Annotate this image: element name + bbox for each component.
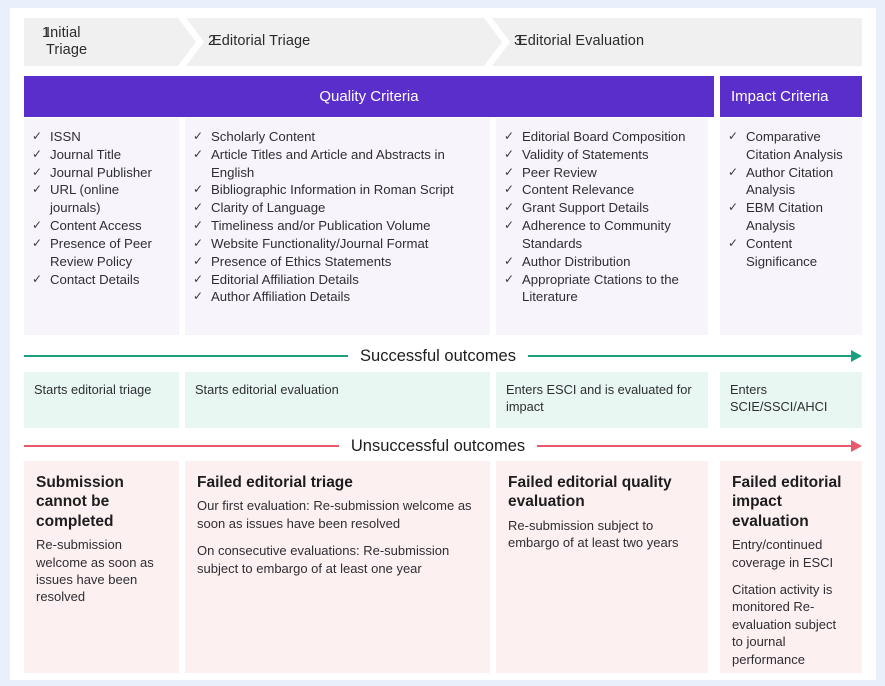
check-icon: ✓ — [728, 128, 746, 145]
criteria-item-label: Comparative Citation Analysis — [746, 128, 854, 164]
criteria-item-label: Clarity of Language — [211, 199, 482, 217]
criteria-item: ✓Content Significance — [728, 235, 854, 271]
criteria-item: ✓Content Access — [32, 217, 171, 235]
criteria-item-label: Content Access — [50, 217, 171, 235]
unsuccessful-outcomes-label: Unsuccessful outcomes — [339, 437, 537, 456]
criteria-item-label: Validity of Statements — [522, 146, 700, 164]
criteria-item-label: Author Citation Analysis — [746, 164, 854, 200]
unsuccessful-outcome-2: Failed editorial triageOur first evaluat… — [185, 461, 490, 673]
diagram-page: 1. InitialTriage 2. Editorial Triage 3. … — [0, 0, 885, 686]
criteria-item: ✓Peer Review — [504, 164, 700, 182]
workflow-step-bar: 1. InitialTriage 2. Editorial Triage 3. … — [24, 18, 862, 66]
check-icon: ✓ — [504, 146, 522, 163]
criteria-item: ✓Article Titles and Article and Abstract… — [193, 146, 482, 182]
criteria-item-label: Presence of Ethics Statements — [211, 253, 482, 271]
criteria-item-label: Bibliographic Information in Roman Scrip… — [211, 181, 482, 199]
check-icon: ✓ — [32, 128, 50, 145]
criteria-item-label: Content Relevance — [522, 181, 700, 199]
unsuccessful-outcomes-arrow: Unsuccessful outcomes — [24, 431, 862, 461]
successful-outcome-3: Enters ESCI and is evaluated for impact — [496, 372, 708, 428]
criteria-item-label: Journal Publisher — [50, 164, 171, 182]
check-icon: ✓ — [32, 164, 50, 181]
criteria-item-label: EBM Citation Analysis — [746, 199, 854, 235]
check-icon: ✓ — [504, 199, 522, 216]
criteria-item-label: Editorial Affiliation Details — [211, 271, 482, 289]
criteria-item-label: Article Titles and Article and Abstracts… — [211, 146, 482, 182]
impact-criteria-title: Impact Criteria — [731, 88, 829, 105]
criteria-item: ✓Validity of Statements — [504, 146, 700, 164]
criteria-item: ✓Author Affiliation Details — [193, 288, 482, 306]
step-3-number: 3. — [496, 33, 518, 49]
criteria-item: ✓Bibliographic Information in Roman Scri… — [193, 181, 482, 199]
check-icon: ✓ — [504, 253, 522, 270]
step-2-editorial-triage[interactable]: 2. Editorial Triage — [190, 18, 510, 66]
criteria-column-1: ✓ISSN✓Journal Title✓Journal Publisher✓UR… — [24, 118, 179, 335]
criteria-item-label: Grant Support Details — [522, 199, 700, 217]
check-icon: ✓ — [193, 253, 211, 270]
check-icon: ✓ — [32, 181, 50, 198]
criteria-item-label: ISSN — [50, 128, 171, 146]
successful-outcomes-arrow: Successful outcomes — [24, 341, 862, 371]
criteria-item: ✓Editorial Affiliation Details — [193, 271, 482, 289]
successful-arrow-line-right — [528, 355, 852, 357]
criteria-item: ✓Adherence to Community Standards — [504, 217, 700, 253]
criteria-column-3: ✓Editorial Board Composition✓Validity of… — [496, 118, 708, 335]
criteria-column-4: ✓Comparative Citation Analysis✓Author Ci… — [720, 118, 862, 335]
successful-arrow-line-left — [24, 355, 348, 357]
criteria-column-2: ✓Scholarly Content✓Article Titles and Ar… — [185, 118, 490, 335]
check-icon: ✓ — [504, 271, 522, 288]
step-3-label: Editorial Evaluation — [518, 33, 644, 50]
check-icon: ✓ — [32, 235, 50, 252]
criteria-item-label: Timeliness and/or Publication Volume — [211, 217, 482, 235]
check-icon: ✓ — [728, 235, 746, 252]
criteria-item: ✓Timeliness and/or Publication Volume — [193, 217, 482, 235]
step-1-label: InitialTriage — [46, 25, 87, 59]
criteria-item-label: Journal Title — [50, 146, 171, 164]
criteria-item-label: Author Affiliation Details — [211, 288, 482, 306]
criteria-item: ✓Grant Support Details — [504, 199, 700, 217]
criteria-item: ✓Clarity of Language — [193, 199, 482, 217]
criteria-item-label: URL (online journals) — [50, 181, 171, 217]
step-3-editorial-evaluation[interactable]: 3. Editorial Evaluation — [496, 18, 862, 66]
unsuccessful-arrowhead-icon — [851, 440, 862, 452]
unsuccessful-arrow-line-left — [24, 445, 339, 447]
criteria-item-label: Presence of Peer Review Policy — [50, 235, 171, 271]
criteria-item-label: Author Distribution — [522, 253, 700, 271]
check-icon: ✓ — [504, 181, 522, 198]
criteria-item: ✓Author Distribution — [504, 253, 700, 271]
criteria-item: ✓Website Functionality/Journal Format — [193, 235, 482, 253]
unsuccessful-outcome-text: Re-submission subject to embargo of at l… — [508, 517, 696, 552]
unsuccessful-outcome-title: Failed editorial triage — [197, 473, 478, 492]
unsuccessful-outcome-4: Failed editorial impact evaluationEntry/… — [720, 461, 862, 673]
criteria-item: ✓Content Relevance — [504, 181, 700, 199]
unsuccessful-outcome-text: On consecutive evaluations: Re-submissio… — [197, 542, 478, 577]
unsuccessful-outcome-1: Submission cannot be completedRe-submiss… — [24, 461, 179, 673]
criteria-item-label: Scholarly Content — [211, 128, 482, 146]
criteria-item-label: Peer Review — [522, 164, 700, 182]
successful-arrowhead-icon — [851, 350, 862, 362]
quality-criteria-title: Quality Criteria — [319, 88, 418, 105]
criteria-item: ✓Scholarly Content — [193, 128, 482, 146]
unsuccessful-outcome-3: Failed editorial quality evaluationRe-su… — [496, 461, 708, 673]
criteria-item: ✓Author Citation Analysis — [728, 164, 854, 200]
unsuccessful-outcome-text: Our first evaluation: Re-submission welc… — [197, 497, 478, 532]
check-icon: ✓ — [32, 217, 50, 234]
unsuccessful-outcome-title: Submission cannot be completed — [36, 473, 167, 531]
check-icon: ✓ — [504, 128, 522, 145]
quality-criteria-header: Quality Criteria — [24, 76, 714, 117]
criteria-item: ✓EBM Citation Analysis — [728, 199, 854, 235]
check-icon: ✓ — [193, 128, 211, 145]
step-1-initial-triage[interactable]: 1. InitialTriage — [24, 18, 204, 66]
criteria-item-label: Adherence to Community Standards — [522, 217, 700, 253]
successful-outcomes-label: Successful outcomes — [348, 347, 528, 366]
unsuccessful-arrow-line-right — [537, 445, 852, 447]
criteria-item: ✓Contact Details — [32, 271, 171, 289]
check-icon: ✓ — [728, 164, 746, 181]
step-2-label: Editorial Triage — [212, 33, 310, 50]
step-1-number: 1. — [24, 25, 46, 41]
unsuccessful-outcome-title: Failed editorial quality evaluation — [508, 473, 696, 512]
criteria-item: ✓Comparative Citation Analysis — [728, 128, 854, 164]
check-icon: ✓ — [193, 271, 211, 288]
check-icon: ✓ — [504, 217, 522, 234]
unsuccessful-outcome-text: Entry/continued coverage in ESCI — [732, 536, 850, 571]
criteria-item-label: Website Functionality/Journal Format — [211, 235, 482, 253]
check-icon: ✓ — [32, 271, 50, 288]
unsuccessful-outcome-text: Re-submission welcome as soon as issues … — [36, 536, 167, 606]
check-icon: ✓ — [193, 181, 211, 198]
criteria-item-label: Contact Details — [50, 271, 171, 289]
criteria-item: ✓Journal Title — [32, 146, 171, 164]
criteria-item: ✓Editorial Board Composition — [504, 128, 700, 146]
diagram-card: 1. InitialTriage 2. Editorial Triage 3. … — [10, 8, 876, 680]
impact-criteria-header: Impact Criteria — [720, 76, 862, 117]
criteria-item-label: Editorial Board Composition — [522, 128, 700, 146]
check-icon: ✓ — [728, 199, 746, 216]
check-icon: ✓ — [193, 199, 211, 216]
criteria-item: ✓Presence of Peer Review Policy — [32, 235, 171, 271]
criteria-item-label: Content Significance — [746, 235, 854, 271]
check-icon: ✓ — [193, 217, 211, 234]
step-2-number: 2. — [190, 33, 212, 49]
criteria-item-label: Appropriate Ctations to the Literature — [522, 271, 700, 307]
successful-outcome-4: Enters SCIE/SSCI/AHCI — [720, 372, 862, 428]
check-icon: ✓ — [193, 146, 211, 163]
successful-outcome-2: Starts editorial evaluation — [185, 372, 490, 428]
check-icon: ✓ — [32, 146, 50, 163]
unsuccessful-outcome-text: Citation activity is monitored Re-evalua… — [732, 581, 850, 668]
check-icon: ✓ — [193, 288, 211, 305]
criteria-item: ✓Appropriate Ctations to the Literature — [504, 271, 700, 307]
criteria-item: ✓ISSN — [32, 128, 171, 146]
criteria-item: ✓URL (online journals) — [32, 181, 171, 217]
criteria-item: ✓Presence of Ethics Statements — [193, 253, 482, 271]
check-icon: ✓ — [504, 164, 522, 181]
successful-outcome-1: Starts editorial triage — [24, 372, 179, 428]
criteria-item: ✓Journal Publisher — [32, 164, 171, 182]
check-icon: ✓ — [193, 235, 211, 252]
unsuccessful-outcome-title: Failed editorial impact evaluation — [732, 473, 850, 531]
